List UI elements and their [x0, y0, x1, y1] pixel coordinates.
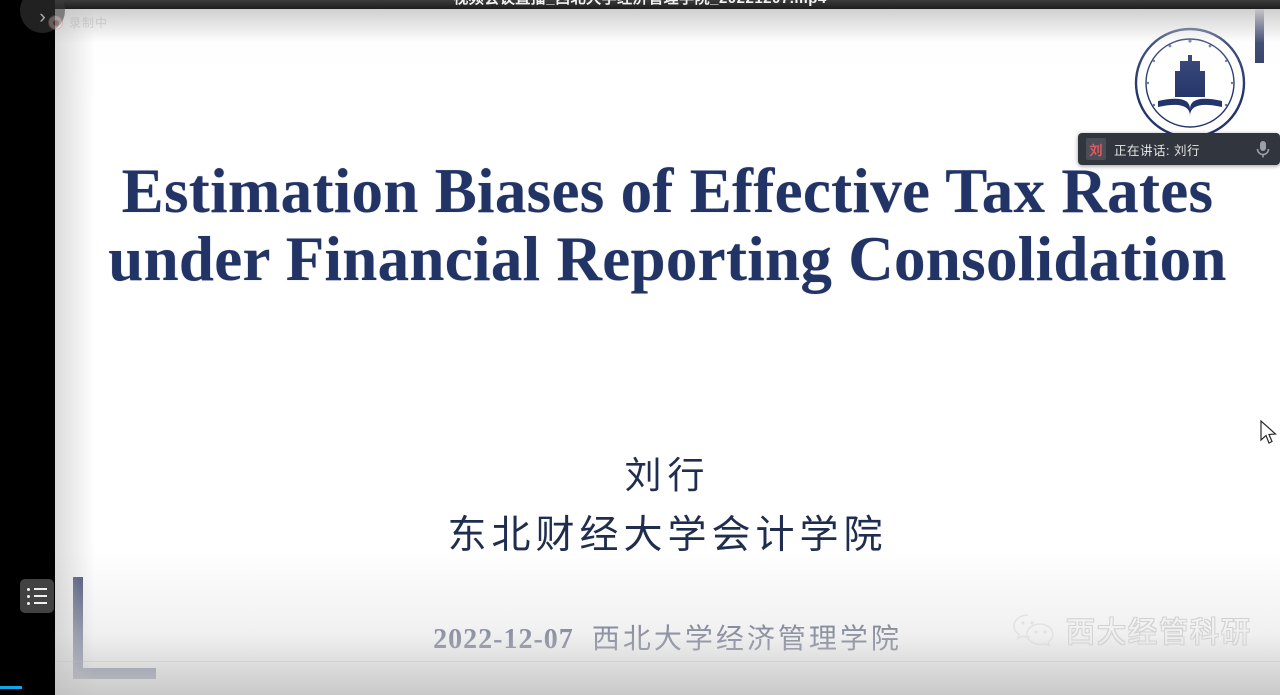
- slide-corner-decoration-top-right-vertical: [1255, 9, 1264, 63]
- active-speaker-toast: 刘 正在讲话: 刘行: [1078, 133, 1280, 165]
- screen-capture-view: 视频会议直播_西北大学经济管理学院_20221207.mp4: [0, 0, 1280, 695]
- slide-venue: 西北大学经济管理学院: [592, 622, 902, 655]
- slide-title: Estimation Biases of Effective Tax Rates…: [55, 157, 1280, 293]
- slide-date: 2022-12-07: [433, 624, 574, 655]
- slide-corner-decoration-bottom-left-horizontal: [73, 668, 156, 679]
- projector-glare-overlay: [55, 9, 1280, 695]
- window-title: 视频会议直播_西北大学经济管理学院_20221207.mp4: [453, 0, 826, 8]
- record-dot-icon: [48, 15, 63, 30]
- microphone-icon: [1254, 138, 1272, 160]
- list-icon-row-3: [27, 602, 47, 605]
- wechat-watermark: 西大经管科研: [1012, 609, 1252, 651]
- playback-progress-fill: [0, 686, 22, 689]
- avatar: 刘: [1086, 138, 1106, 160]
- list-icon: [27, 588, 47, 591]
- shared-screen-slide: Estimation Biases of Effective Tax Rates…: [55, 9, 1280, 695]
- wechat-icon: [1012, 612, 1056, 648]
- list-icon-row-2: [27, 595, 47, 598]
- slide-affiliation: 东北财经大学会计学院: [55, 504, 1280, 560]
- participants-list-button[interactable]: [20, 579, 54, 613]
- playback-progress-track[interactable]: [0, 686, 1280, 689]
- mouse-cursor: [1260, 420, 1278, 446]
- window-title-bar: 视频会议直播_西北大学经济管理学院_20221207.mp4: [0, 0, 1280, 9]
- chevron-right-icon: ›: [39, 8, 45, 27]
- watermark-text: 西大经管科研: [1066, 609, 1252, 651]
- slide-author: 刘行: [55, 445, 1280, 499]
- recording-indicator: 录制中: [48, 14, 108, 31]
- slide-footer-divider: [55, 661, 1280, 662]
- dufe-university-logo: [1132, 25, 1248, 141]
- active-speaker-label: 正在讲话: 刘行: [1114, 140, 1246, 159]
- recording-label: 录制中: [69, 14, 108, 31]
